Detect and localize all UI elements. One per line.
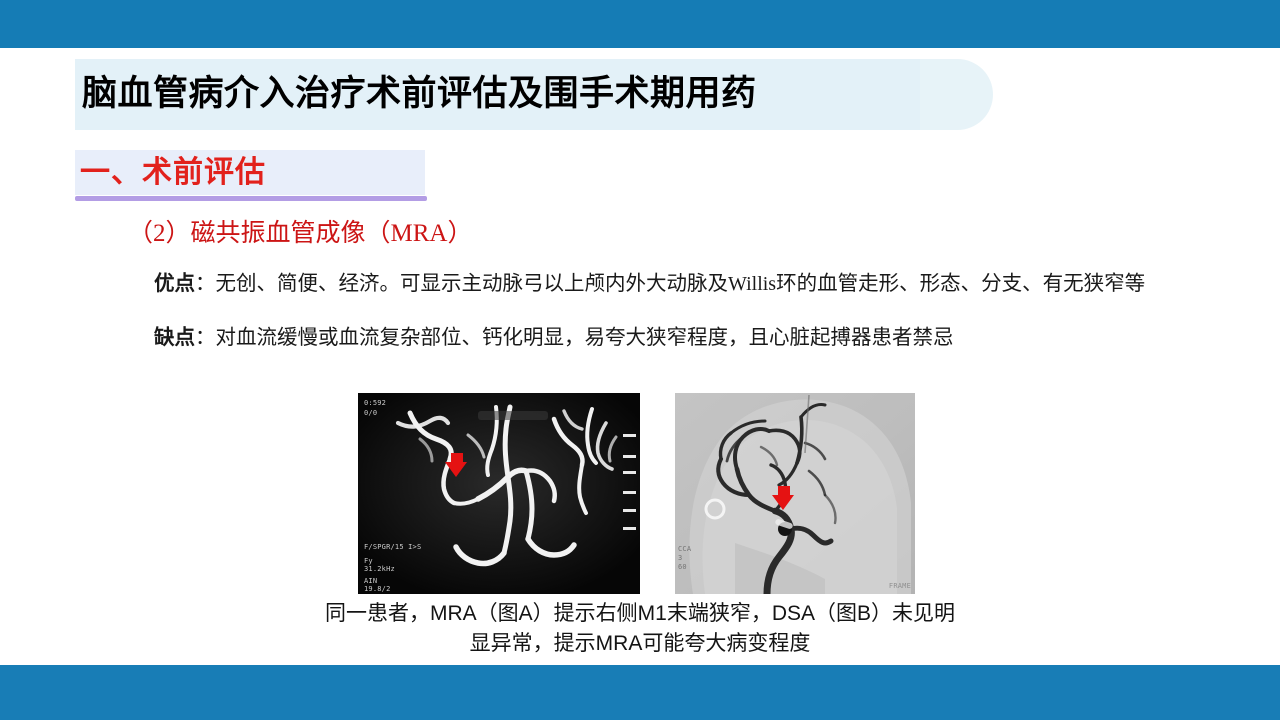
paragraph-advantages-text-1: 无创、简便、经济。可显示主动脉弓以上颅内外大动脉及 [216, 272, 729, 295]
dsa-overlay-text-2: 60 [678, 563, 687, 571]
figure-caption-line-1: 同一患者，MRA（图A）提示右侧M1末端狭窄，DSA（图B）未见明 [240, 599, 1040, 629]
mra-vessel-tree [358, 393, 640, 594]
dsa-overlay-text-3: FRAME [889, 582, 911, 590]
dsa-overlay-text-1: 3 [678, 554, 682, 562]
bottom-accent-bar [0, 665, 1280, 720]
paragraph-disadvantages: 缺点：对血流缓慢或血流复杂部位、钙化明显，易夸大狭窄程度，且心脏起搏器患者禁忌 [114, 318, 1204, 357]
mra-ruler-tick [623, 471, 636, 474]
dsa-overlay-text-0: CCA [678, 545, 691, 553]
paragraph-advantages-text-2: 环的血管走形、形态、分支、有无狭窄等 [776, 272, 1145, 295]
mra-ruler-tick [623, 491, 636, 494]
mra-ruler-tick [623, 455, 636, 458]
mra-overlay-text-0: 0:592 [364, 399, 386, 407]
paragraph-disadvantages-label: 缺点 [154, 326, 195, 349]
figure-row: 0:592 0/0 F/SPGR/15 I>S Fy 31.2kHz AIN 1… [0, 393, 1280, 594]
paragraph-advantages-separator: ： [195, 272, 216, 295]
section-heading: 一、术前评估 [80, 150, 266, 195]
figure-mra-image: 0:592 0/0 F/SPGR/15 I>S Fy 31.2kHz AIN 1… [358, 393, 640, 594]
slide-root: 脑血管病介入治疗术前评估及围手术期用药 一、术前评估 （2）磁共振血管成像（MR… [0, 0, 1280, 720]
figure-caption: 同一患者，MRA（图A）提示右侧M1末端狭窄，DSA（图B）未见明 显异常，提示… [240, 599, 1040, 659]
mra-overlay-text-1: 0/0 [364, 409, 377, 417]
mra-ruler-tick [623, 434, 636, 437]
paragraph-disadvantages-text-1: 对血流缓慢或血流复杂部位、钙化明显，易夸大狭窄程度，且心脏起搏器患者禁忌 [216, 326, 954, 349]
mra-overlay-text-2: F/SPGR/15 I>S [364, 543, 421, 551]
page-title: 脑血管病介入治疗术前评估及围手术期用药 [82, 63, 982, 125]
mra-overlay-text-4: 31.2kHz [364, 565, 395, 573]
mra-ruler-tick [623, 527, 636, 530]
figure-caption-line-2: 显异常，提示MRA可能夸大病变程度 [240, 629, 1040, 659]
dsa-vessel-tree [675, 393, 915, 594]
top-accent-bar [0, 0, 1280, 48]
paragraph-advantages: 优点：无创、简便、经济。可显示主动脉弓以上颅内外大动脉及Willis环的血管走形… [114, 264, 1204, 304]
body-text-block: 优点：无创、简便、经济。可显示主动脉弓以上颅内外大动脉及Willis环的血管走形… [114, 264, 1204, 357]
paragraph-advantages-label: 优点 [154, 272, 195, 295]
paragraph-advantages-latin: Willis [728, 273, 776, 295]
paragraph-disadvantages-separator: ： [195, 326, 216, 349]
sub-heading: （2）磁共振血管成像（MRA） [128, 217, 472, 251]
section-heading-underline [75, 196, 427, 201]
mra-overlay-text-5: AIN [364, 577, 377, 585]
mra-ruler-tick [623, 509, 636, 512]
mra-overlay-text-3: Fy [364, 557, 373, 565]
mra-overlay-text-6: 19.8/2 [364, 585, 391, 593]
figure-dsa-image: CCA 3 60 FRAME [675, 393, 915, 594]
